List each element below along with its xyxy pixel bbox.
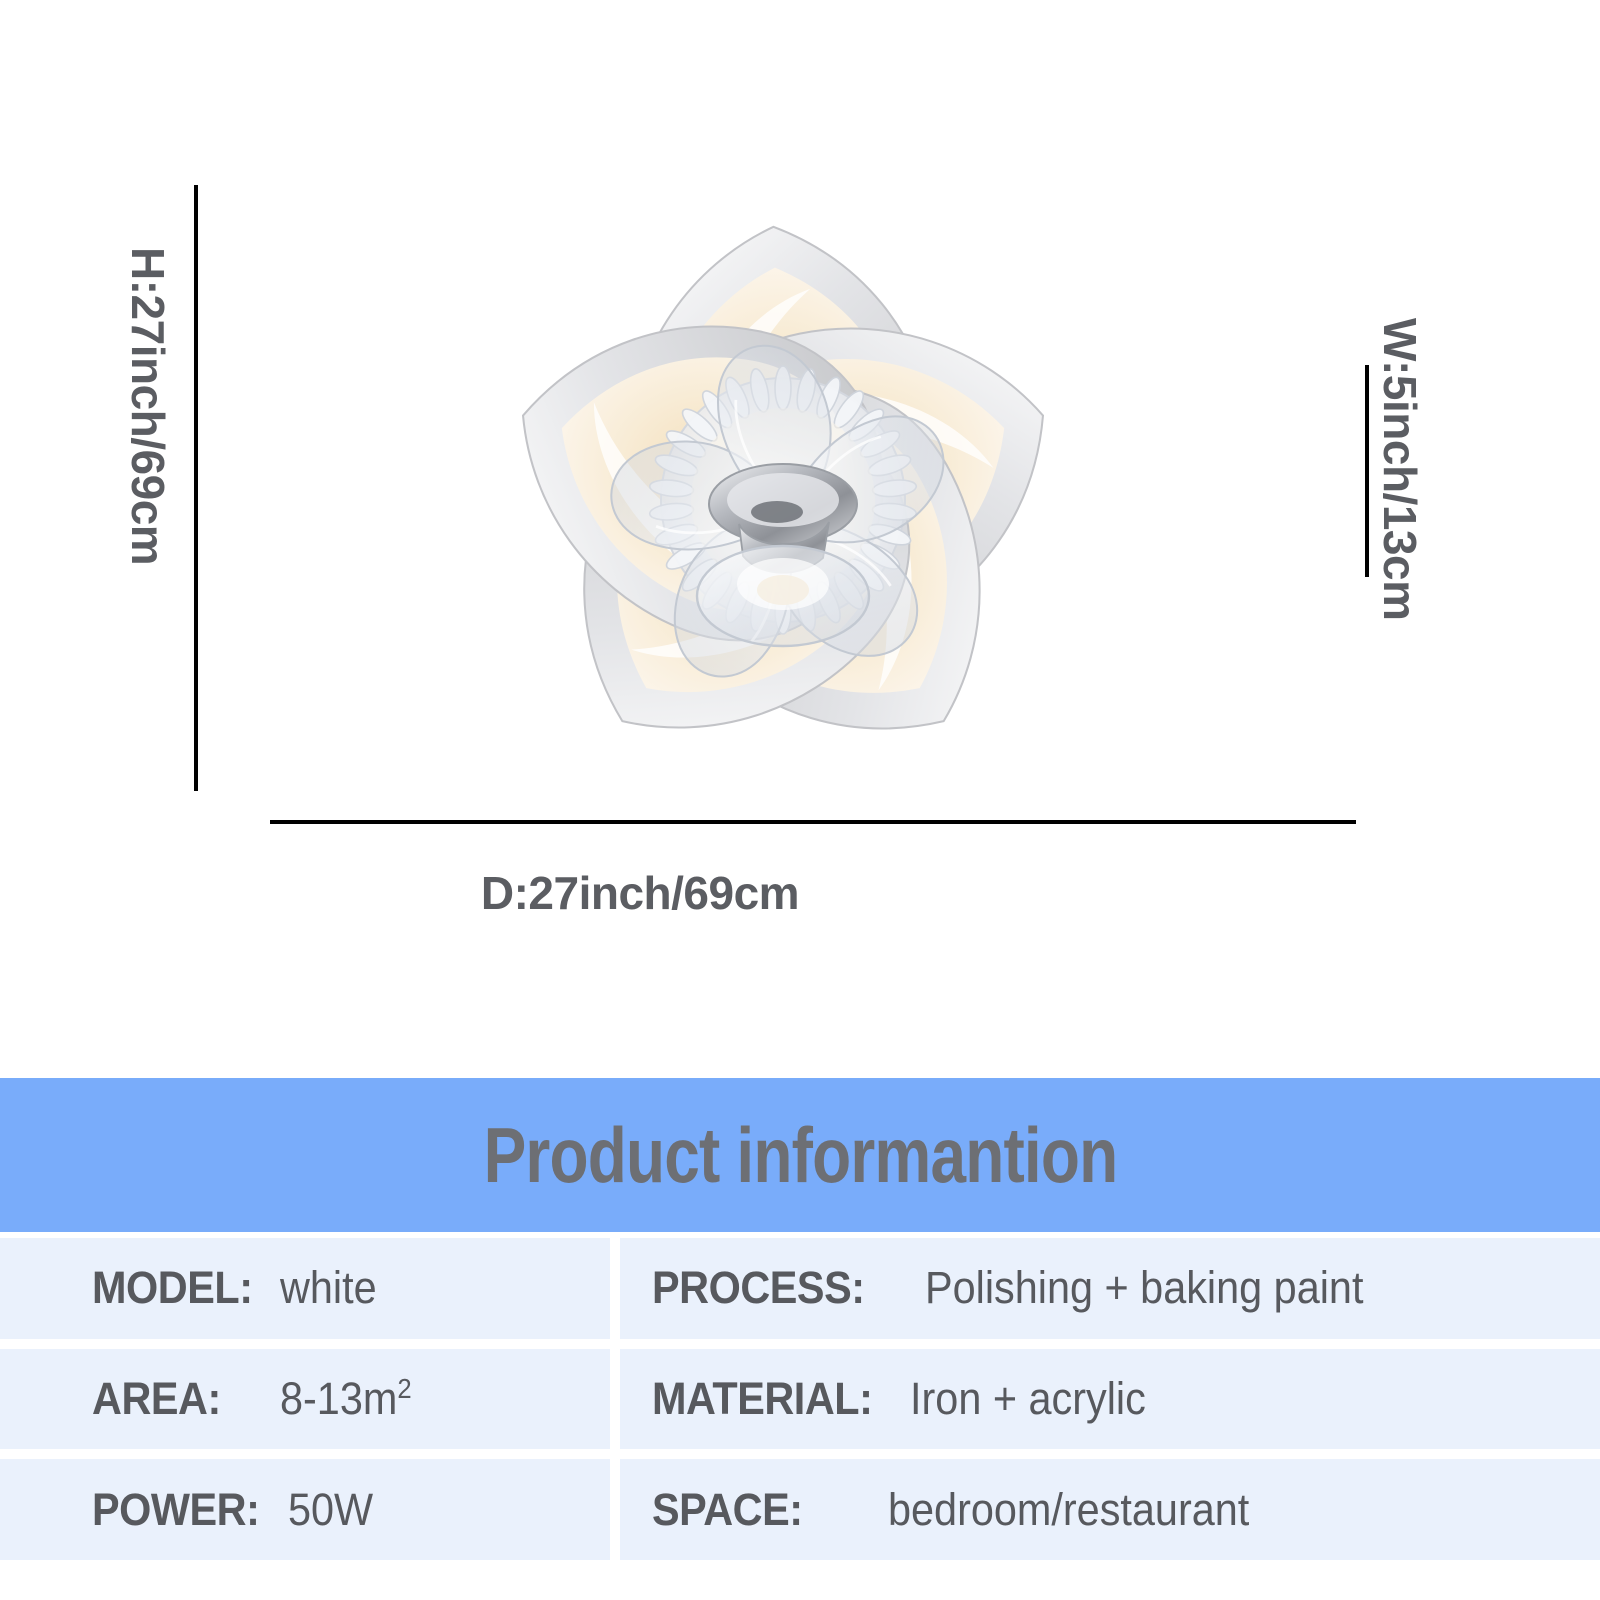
width-dimension-label: W:5inch/13cm: [1373, 318, 1427, 620]
spec-value-area-superscript: 2: [397, 1373, 411, 1404]
product-information-title: Product informantion: [483, 1110, 1117, 1201]
product-spec-page: H:27inch/69cm W:5inch/13cm D:27inch/69cm: [0, 0, 1600, 1600]
spec-cell-model: MODEL: white: [0, 1238, 610, 1339]
spec-key-material: MATERIAL:: [652, 1373, 872, 1425]
product-image-area: H:27inch/69cm W:5inch/13cm D:27inch/69cm: [0, 0, 1600, 1060]
spec-value-power: 50W: [288, 1484, 373, 1536]
spec-cell-material: MATERIAL: Iron + acrylic: [620, 1349, 1600, 1450]
spec-value-area-text: 8-13m: [280, 1373, 397, 1424]
spec-value-area: 8-13m2: [280, 1373, 412, 1425]
width-dimension-line: [1365, 365, 1369, 577]
depth-dimension-line: [270, 820, 1356, 824]
spec-cell-space: SPACE: bedroom/restaurant: [620, 1459, 1600, 1560]
column-spacer: [610, 1238, 620, 1339]
height-dimension-label: H:27inch/69cm: [121, 247, 175, 565]
depth-dimension-label: D:27inch/69cm: [0, 866, 1440, 920]
specification-table: MODEL: white PROCESS: Polishing + baking…: [0, 1238, 1600, 1560]
spec-key-space: SPACE:: [652, 1484, 803, 1536]
spec-key-process: PROCESS:: [652, 1262, 865, 1314]
product-information-section: Product informantion MODEL: white PROCES…: [0, 1078, 1600, 1560]
spec-value-material: Iron + acrylic: [910, 1373, 1146, 1425]
column-spacer: [610, 1349, 620, 1450]
ceiling-fan-light-image: [248, 170, 1318, 810]
spec-value-process: Polishing + baking paint: [925, 1262, 1363, 1314]
spec-cell-area: AREA: 8-13m2: [0, 1349, 610, 1450]
spec-key-area: AREA:: [92, 1373, 221, 1425]
height-dimension-line: [194, 185, 198, 791]
spec-cell-power: POWER: 50W: [0, 1459, 610, 1560]
spec-cell-process: PROCESS: Polishing + baking paint: [620, 1238, 1600, 1339]
spec-key-power: POWER:: [92, 1484, 259, 1536]
spec-value-model: white: [280, 1262, 377, 1314]
product-information-banner: Product informantion: [0, 1078, 1600, 1232]
column-spacer: [610, 1459, 620, 1560]
spec-key-model: MODEL:: [92, 1262, 253, 1314]
ceiling-fan-light-illustration: [248, 170, 1318, 810]
spec-value-space: bedroom/restaurant: [888, 1484, 1249, 1536]
